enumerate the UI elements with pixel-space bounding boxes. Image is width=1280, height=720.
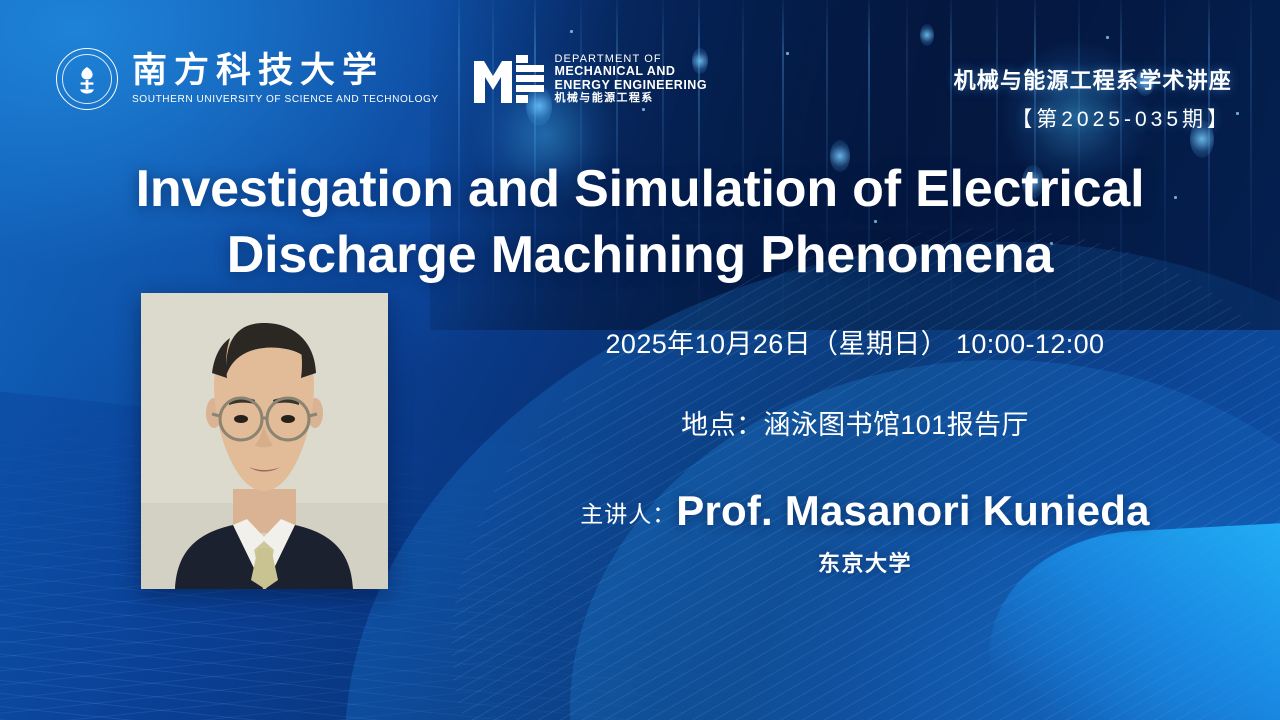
university-name-cn: 南方科技大学 [132,53,452,88]
lecture-series-header: 机械与能源工程系学术讲座 【第2025-035期】 [954,63,1232,133]
department-line-3: ENERGY ENGINEERING [555,79,708,92]
department-line-2: MECHANICAL AND [555,65,708,78]
speaker-label: 主讲人： [580,495,676,529]
speaker-name: Prof. Masanori Kunieda [676,487,1149,535]
event-info: 2025年10月26日（星期日） 10:00-12:00 地点：涵泳图书馆101… [470,322,1240,442]
issue-number: 【第2025-035期】 [954,103,1232,133]
department-logo: DEPARTMENT OF MECHANICAL AND ENERGY ENGI… [472,53,708,105]
event-venue: 地点：涵泳图书馆101报告厅 [470,403,1240,442]
talk-title: Investigation and Simulation of Electric… [0,156,1280,288]
department-line-4: 机械与能源工程系 [555,93,708,105]
mee-monogram-icon [472,53,546,105]
speaker-line: 主讲人： Prof. Masanori Kunieda [470,487,1260,535]
event-datetime: 2025年10月26日（星期日） 10:00-12:00 [470,322,1240,361]
sustech-torch-seal-icon [56,48,118,110]
speaker-portrait [141,293,388,589]
speaker-affiliation: 东京大学 [470,546,1260,578]
logo-bar: 南方科技大学 SOUTHERN UNIVERSITY OF SCIENCE AN… [56,48,707,110]
university-name-en: SOUTHERN UNIVERSITY OF SCIENCE AND TECHN… [132,93,439,105]
seminar-poster: 南方科技大学 SOUTHERN UNIVERSITY OF SCIENCE AN… [0,0,1280,720]
series-title: 机械与能源工程系学术讲座 [954,63,1232,95]
